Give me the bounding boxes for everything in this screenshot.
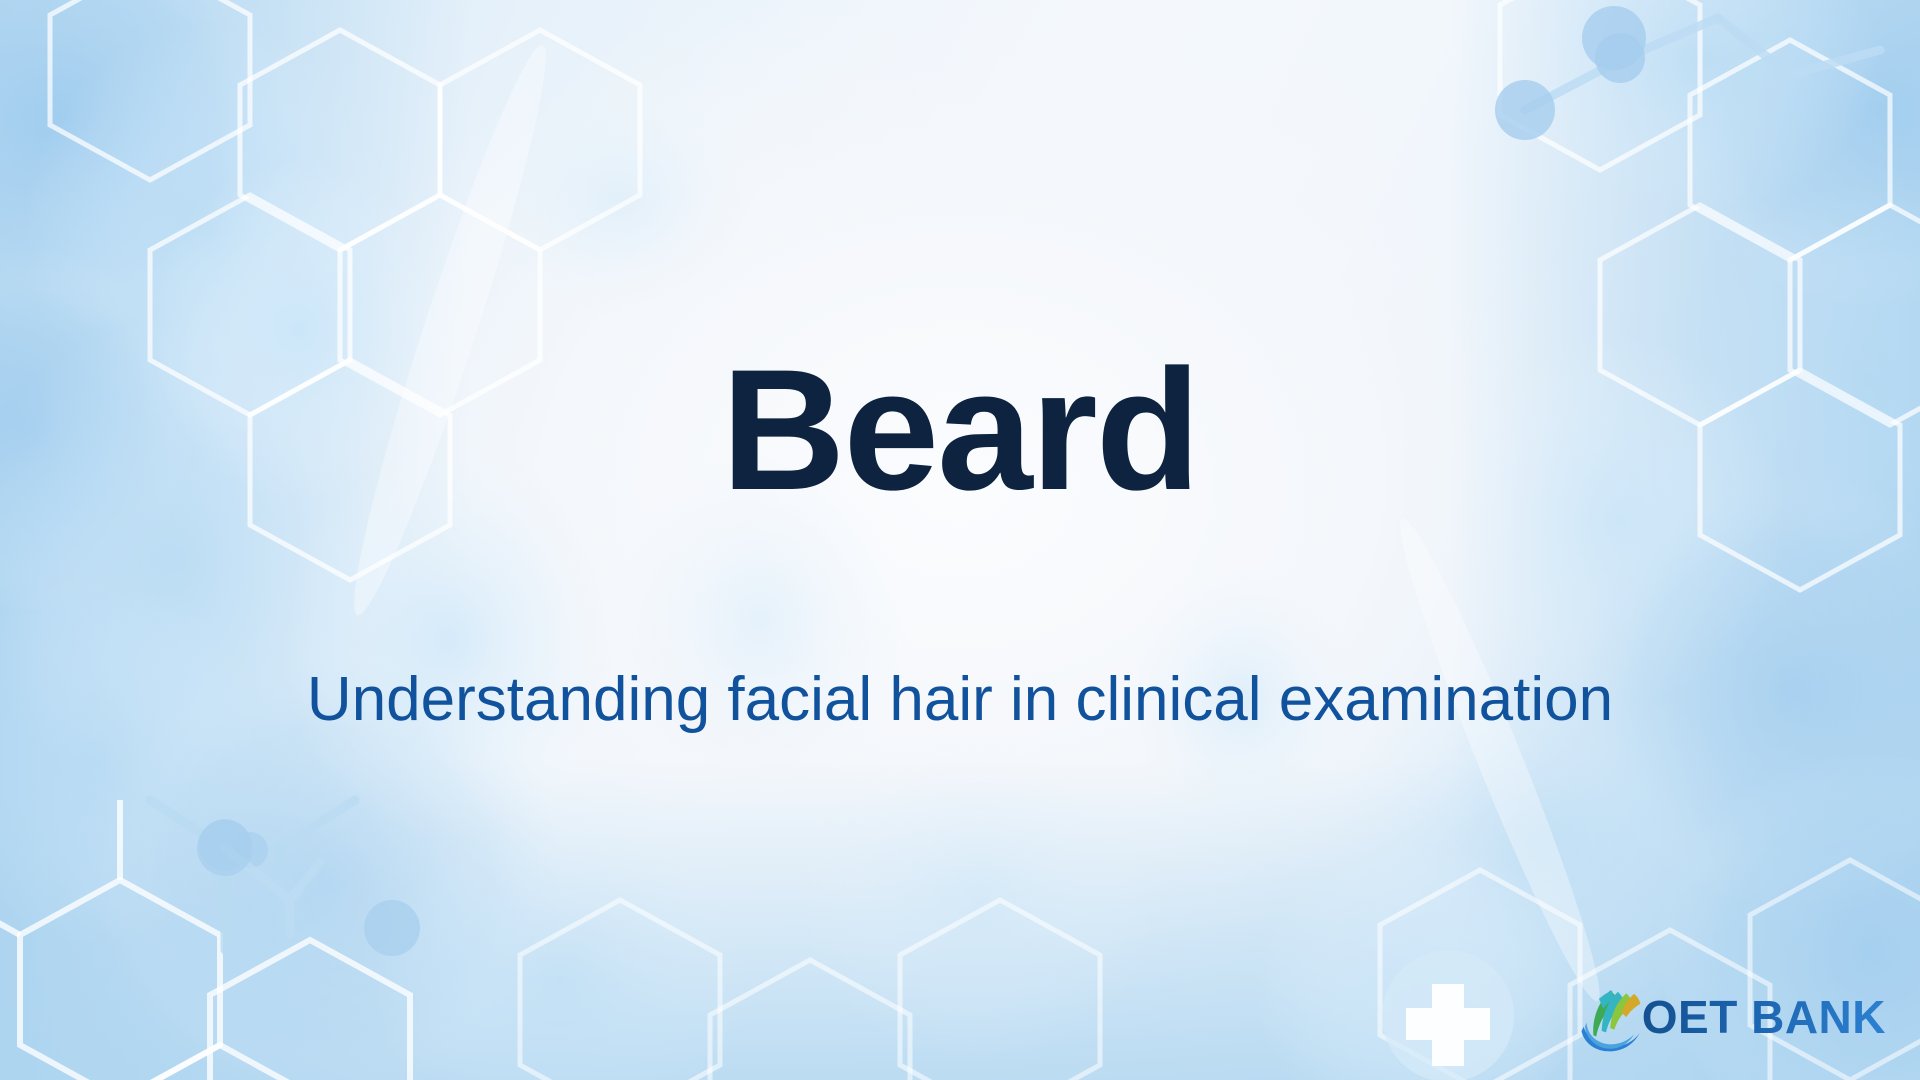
slide-subtitle: Understanding facial hair in clinical ex… xyxy=(307,664,1613,735)
brand-logo-text: OET BANK xyxy=(1642,994,1886,1040)
slide-content: Beard Understanding facial hair in clini… xyxy=(0,0,1920,1080)
slide-canvas: Beard Understanding facial hair in clini… xyxy=(0,0,1920,1080)
oet-bank-swoosh-mark xyxy=(1578,982,1648,1052)
brand-logo: OET BANK xyxy=(1578,982,1886,1052)
slide-title: Beard xyxy=(721,344,1199,516)
